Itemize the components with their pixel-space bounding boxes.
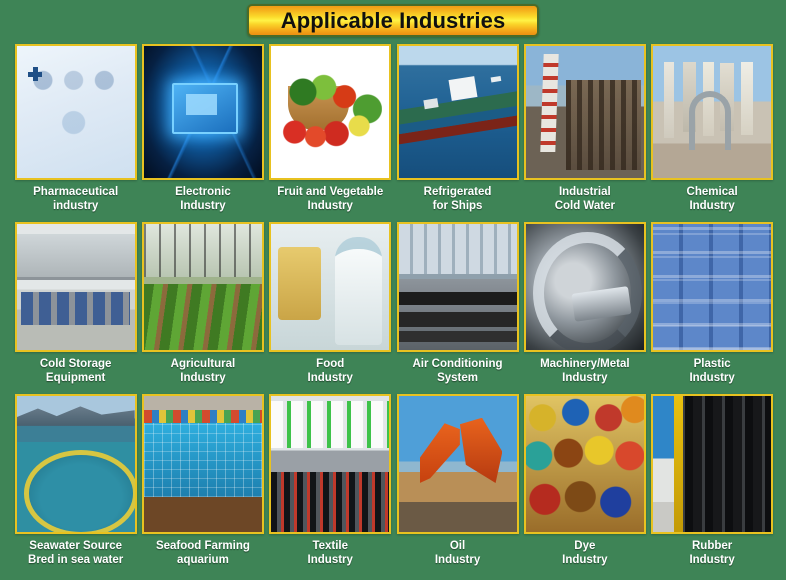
industry-thumbnail[interactable] xyxy=(524,394,646,534)
industry-card[interactable]: Air Conditioning System xyxy=(394,222,521,394)
industry-caption: Rubber Industry xyxy=(650,539,774,567)
industry-caption: Machinery/Metal Industry xyxy=(523,357,647,385)
industry-thumbnail[interactable] xyxy=(524,44,646,180)
industry-caption: Plastic Industry xyxy=(650,357,774,385)
industry-thumbnail[interactable] xyxy=(142,44,264,180)
chemical-refinery-image xyxy=(653,46,771,178)
cold-storage-image xyxy=(17,224,135,350)
industry-caption: Air Conditioning System xyxy=(396,357,520,385)
industry-caption: Industrial Cold Water xyxy=(523,185,647,213)
machinery-metal-image xyxy=(526,224,644,350)
industry-caption: Dye Industry xyxy=(523,539,647,567)
industry-row-1: Pharmaceutical industry Electronic Indus… xyxy=(12,44,776,222)
title-banner-container: Applicable Industries xyxy=(0,4,786,40)
industry-card[interactable]: Seawater Source Bred in sea water xyxy=(12,394,139,580)
industry-thumbnail[interactable] xyxy=(651,44,773,180)
industry-thumbnail[interactable] xyxy=(397,394,519,534)
industry-thumbnail[interactable] xyxy=(15,222,137,352)
greenhouse-image xyxy=(144,224,262,350)
industry-thumbnail[interactable] xyxy=(269,394,391,534)
electronic-chip-image xyxy=(144,46,262,178)
industry-caption: Cold Storage Equipment xyxy=(14,357,138,385)
industry-card[interactable]: Cold Storage Equipment xyxy=(12,222,139,394)
industry-card[interactable]: Plastic Industry xyxy=(648,222,775,394)
industry-card[interactable]: Rubber Industry xyxy=(648,394,775,580)
industry-row-3: Seawater Source Bred in sea water Seafoo… xyxy=(12,394,776,580)
industry-row-2: Cold Storage Equipment Agricultural Indu… xyxy=(12,222,776,394)
rubber-tyres-image xyxy=(653,396,771,532)
cargo-ship-image xyxy=(399,46,517,178)
industry-thumbnail[interactable] xyxy=(524,222,646,352)
industry-card[interactable]: Chemical Industry xyxy=(648,44,775,222)
industry-thumbnail[interactable] xyxy=(397,222,519,352)
industry-thumbnail[interactable] xyxy=(15,44,137,180)
oil-pumpjack-image xyxy=(399,396,517,532)
industry-card[interactable]: Food Industry xyxy=(267,222,394,394)
industry-card[interactable]: Industrial Cold Water xyxy=(521,44,648,222)
food-processing-image xyxy=(271,224,389,350)
industry-card[interactable]: Fruit and Vegetable Industry xyxy=(267,44,394,222)
industry-card[interactable]: Oil Industry xyxy=(394,394,521,580)
pharmaceutical-image xyxy=(17,46,135,178)
industry-caption: Oil Industry xyxy=(396,539,520,567)
industry-grid: Pharmaceutical industry Electronic Indus… xyxy=(12,44,776,580)
fruit-vegetable-image xyxy=(271,46,389,178)
seawater-farm-image xyxy=(17,396,135,532)
page-title: Applicable Industries xyxy=(281,10,506,32)
industrial-plant-image xyxy=(526,46,644,178)
industry-card[interactable]: Electronic Industry xyxy=(139,44,266,222)
dye-powder-image xyxy=(526,396,644,532)
industry-caption: Seafood Farming aquarium xyxy=(141,539,265,567)
industry-caption: Pharmaceutical industry xyxy=(14,185,138,213)
industry-card[interactable]: Textile Industry xyxy=(267,394,394,580)
industry-card[interactable]: Refrigerated for Ships xyxy=(394,44,521,222)
industry-thumbnail[interactable] xyxy=(269,44,391,180)
industry-caption: Electronic Industry xyxy=(141,185,265,213)
industry-caption: Seawater Source Bred in sea water xyxy=(14,539,138,567)
industry-thumbnail[interactable] xyxy=(269,222,391,352)
title-banner: Applicable Industries xyxy=(247,4,539,37)
industry-caption: Food Industry xyxy=(268,357,392,385)
textile-machine-image xyxy=(271,396,389,532)
industry-thumbnail[interactable] xyxy=(651,394,773,534)
industry-caption: Agricultural Industry xyxy=(141,357,265,385)
industry-thumbnail[interactable] xyxy=(15,394,137,534)
industry-caption: Textile Industry xyxy=(268,539,392,567)
seafood-aquarium-image xyxy=(144,396,262,532)
air-conditioning-image xyxy=(399,224,517,350)
industry-card[interactable]: Agricultural Industry xyxy=(139,222,266,394)
industry-thumbnail[interactable] xyxy=(397,44,519,180)
industry-card[interactable]: Dye Industry xyxy=(521,394,648,580)
industry-thumbnail[interactable] xyxy=(651,222,773,352)
industry-thumbnail[interactable] xyxy=(142,222,264,352)
industry-caption: Refrigerated for Ships xyxy=(396,185,520,213)
industry-card[interactable]: Seafood Farming aquarium xyxy=(139,394,266,580)
plastic-bales-image xyxy=(653,224,771,350)
industry-caption: Chemical Industry xyxy=(650,185,774,213)
industry-thumbnail[interactable] xyxy=(142,394,264,534)
industry-caption: Fruit and Vegetable Industry xyxy=(268,185,392,213)
industry-card[interactable]: Pharmaceutical industry xyxy=(12,44,139,222)
industry-card[interactable]: Machinery/Metal Industry xyxy=(521,222,648,394)
